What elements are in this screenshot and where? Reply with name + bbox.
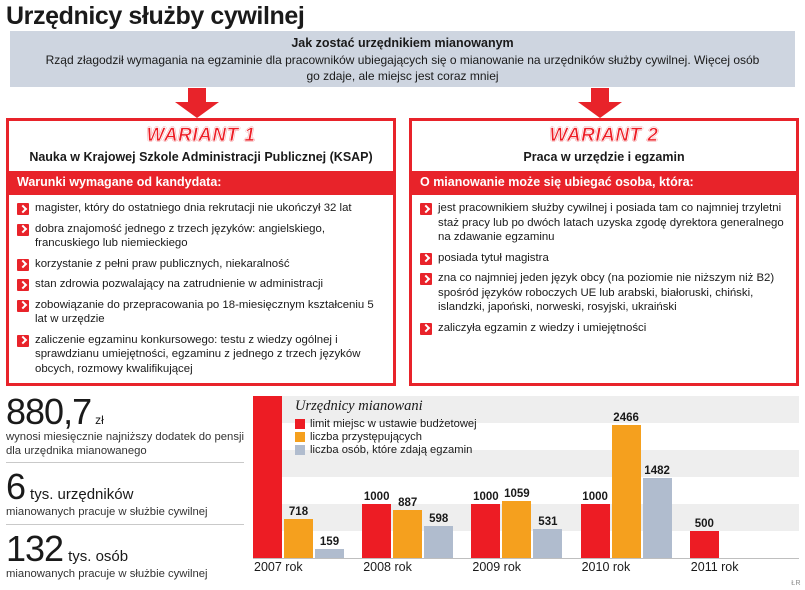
list-item-label: zna co najmniej jeden język obcy (na poz… [438, 271, 786, 315]
chevron-right-icon [17, 259, 29, 271]
legend-label: limit miejsc w ustawie budżetowej [310, 418, 477, 430]
bar-value-label: 1000 [473, 491, 499, 503]
arrow-shaft [188, 88, 206, 103]
legend-swatch-icon [295, 445, 305, 455]
legend-item: limit miejsc w ustawie budżetowej [295, 418, 477, 430]
bar-fill [471, 504, 500, 558]
variant-1-band: Warunki wymagane od kandydata: [9, 171, 393, 195]
chevron-right-icon [17, 224, 29, 236]
list-item: jest pracownikiem służby cywilnej i posi… [420, 201, 786, 245]
legend-item: liczba przystępujących [295, 431, 477, 443]
stat-number-row: 880,7zł [6, 392, 244, 432]
bar-value-label: 1000 [582, 491, 608, 503]
bar-value-label: 1000 [364, 491, 390, 503]
legend-label: liczba przystępujących [310, 431, 422, 443]
bar-value-label: 159 [320, 536, 339, 548]
stat-number: 880,7 [6, 392, 91, 432]
intro-heading: Jak zostać urzędnikiem mianowanym [40, 36, 765, 51]
variant-2-list: jest pracownikiem służby cywilnej i posi… [412, 195, 796, 335]
chart-x-labels: 2007 rok2008 rok2009 rok2010 rok2011 rok [253, 560, 799, 580]
chevron-right-icon [17, 300, 29, 312]
legend-item: liczba osób, które zdają egzamin [295, 444, 477, 456]
bar-group: 500 [690, 396, 799, 558]
bar-fill [690, 531, 719, 558]
chevron-right-icon [17, 203, 29, 215]
variant-2-kicker: WARIANT 2 [418, 125, 790, 147]
down-arrow-icon-left [175, 88, 219, 118]
stat-number: 6 [6, 467, 25, 507]
list-item: zaliczenie egzaminu konkursowego: testu … [17, 333, 383, 377]
bar-group: 10001059531 [471, 396, 580, 558]
down-arrow-icon-right [578, 88, 622, 118]
bar-fill [581, 504, 610, 558]
list-item-label: zobowiązanie do przepracowania po 18-mie… [35, 298, 383, 327]
legend-swatch-icon [295, 419, 305, 429]
x-axis-label: 2007 rok [254, 560, 303, 574]
bar-fill [253, 396, 282, 558]
variant-1-kicker: WARIANT 1 [15, 125, 387, 147]
chevron-right-icon [17, 335, 29, 347]
list-item: magister, który do ostatniego dnia rekru… [17, 201, 383, 216]
list-item-label: stan zdrowia pozwalający na zatrudnienie… [35, 277, 323, 292]
page-title: Urzędnicy służby cywilnej [6, 2, 304, 31]
list-item-label: posiada tytuł magistra [438, 251, 549, 266]
bar-value-label: 531 [538, 516, 557, 528]
variant-box-2: WARIANT 2 Praca w urzędzie i egzamin O m… [409, 118, 799, 386]
stat-description: mianowanych pracuje w służbie cywilnej [6, 506, 244, 520]
bar-value-label: 718 [289, 506, 308, 518]
stat-description: wynosi miesięcznie najniższy dodatek do … [6, 431, 244, 458]
legend-swatch-icon [295, 432, 305, 442]
chart-legend: Urzędnicy mianowani limit miejsc w ustaw… [295, 398, 477, 457]
list-item-label: dobra znajomość jednego z trzech języków… [35, 222, 383, 251]
list-item: dobra znajomość jednego z trzech języków… [17, 222, 383, 251]
bar-fill [393, 510, 422, 558]
intro-banner: Jak zostać urzędnikiem mianowanym Rząd z… [10, 31, 795, 87]
bar-value-label: 2466 [613, 412, 639, 424]
list-item-label: zaliczyła egzamin z wiedzy i umiejętnośc… [438, 321, 646, 336]
bar-value-label: 500 [695, 518, 714, 530]
bar-fill [315, 549, 344, 558]
list-item: korzystanie z pełni praw publicznych, ni… [17, 257, 383, 272]
x-axis-label: 2008 rok [363, 560, 412, 574]
bar-fill [284, 519, 313, 558]
arrow-head [175, 102, 219, 118]
variant-2-band: O mianowanie może się ubiegać osoba, któ… [412, 171, 796, 195]
variant-2-subtitle: Praca w urzędzie i egzamin [418, 149, 790, 165]
variant-2-header: WARIANT 2 Praca w urzędzie i egzamin [412, 121, 796, 171]
bar-value-label: 887 [398, 497, 417, 509]
bar-group: 100024661482 [581, 396, 690, 558]
chevron-right-icon [420, 323, 432, 335]
bar-chart: 3000718159100088759810001059531100024661… [253, 396, 799, 582]
legend-label: liczba osób, które zdają egzamin [310, 444, 472, 456]
stat-block: 132tys. osóbmianowanych pracuje w służbi… [6, 524, 244, 586]
x-axis-label: 2009 rok [472, 560, 521, 574]
bar-fill [502, 501, 531, 558]
variant-1-header: WARIANT 1 Nauka w Krajowej Szkole Admini… [9, 121, 393, 171]
chevron-right-icon [420, 273, 432, 285]
list-item: zna co najmniej jeden język obcy (na poz… [420, 271, 786, 315]
stat-description: mianowanych pracuje w służbie cywilnej [6, 568, 244, 582]
legend-rows: limit miejsc w ustawie budżetowejliczba … [295, 418, 477, 456]
stats-column: 880,7złwynosi miesięcznie najniższy doda… [6, 392, 244, 585]
stat-unit: zł [95, 410, 104, 430]
bar-fill [612, 425, 641, 558]
stat-unit: tys. osób [68, 547, 128, 567]
list-item-label: zaliczenie egzaminu konkursowego: testu … [35, 333, 383, 377]
stat-number-row: 6tys. urzędników [6, 467, 244, 507]
stat-number-row: 132tys. osób [6, 529, 244, 569]
chevron-right-icon [420, 203, 432, 215]
credit-text: ŁR [791, 580, 801, 587]
intro-body: Rząd złagodził wymagania na egzaminie dl… [40, 53, 765, 84]
list-item: zaliczyła egzamin z wiedzy i umiejętnośc… [420, 321, 786, 336]
stat-number: 132 [6, 529, 63, 569]
list-item-label: magister, który do ostatniego dnia rekru… [35, 201, 352, 216]
list-item: zobowiązanie do przepracowania po 18-mie… [17, 298, 383, 327]
chart-title: Urzędnicy mianowani [295, 398, 477, 415]
stat-unit: tys. urzędników [30, 485, 133, 505]
stat-block: 6tys. urzędnikówmianowanych pracuje w sł… [6, 462, 244, 524]
list-item-label: korzystanie z pełni praw publicznych, ni… [35, 257, 290, 272]
chevron-right-icon [420, 253, 432, 265]
bar-fill [533, 529, 562, 558]
infographic-page: Urzędnicy służby cywilnej Jak zostać urz… [0, 0, 805, 590]
bar-value-label: 1059 [504, 488, 530, 500]
arrow-head [578, 102, 622, 118]
bar-fill [643, 478, 672, 558]
stat-block: 880,7złwynosi miesięcznie najniższy doda… [6, 392, 244, 462]
bar-value-label: 1482 [644, 465, 670, 477]
variant-1-list: magister, który do ostatniego dnia rekru… [9, 195, 393, 376]
bar-fill [362, 504, 391, 558]
list-item: posiada tytuł magistra [420, 251, 786, 266]
arrow-shaft [591, 88, 609, 103]
variant-box-1: WARIANT 1 Nauka w Krajowej Szkole Admini… [6, 118, 396, 386]
x-axis-label: 2011 rok [691, 560, 739, 574]
list-item: stan zdrowia pozwalający na zatrudnienie… [17, 277, 383, 292]
bar-fill [424, 526, 453, 558]
chevron-right-icon [17, 279, 29, 291]
list-item-label: jest pracownikiem służby cywilnej i posi… [438, 201, 786, 245]
variant-1-subtitle: Nauka w Krajowej Szkole Administracji Pu… [15, 149, 387, 165]
bar-value-label: 598 [429, 513, 448, 525]
chart-axis-line [253, 558, 799, 559]
x-axis-label: 2010 rok [582, 560, 631, 574]
